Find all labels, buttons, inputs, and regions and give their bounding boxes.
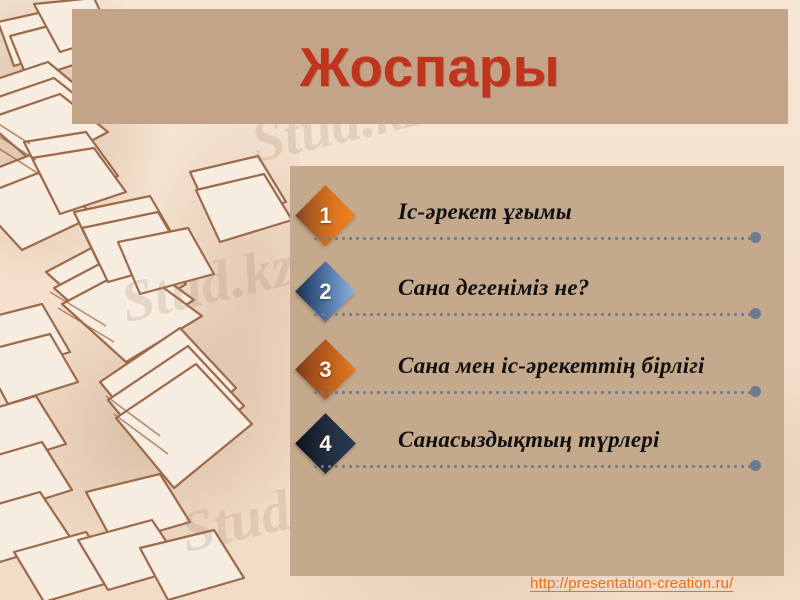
leader-end-dot: [750, 308, 761, 319]
list-item[interactable]: 1 Іс-әрекет ұғымы: [290, 186, 784, 262]
list-item-label: Санасыздықтың түрлері: [398, 418, 776, 462]
list-item[interactable]: 3 Сана мен іс-әрекеттің бірлігі: [290, 340, 784, 416]
list-item-number: 2: [304, 270, 347, 313]
plan-list: 1 Іс-әрекет ұғымы 2 Сана дегеніміз не? 3…: [290, 166, 784, 576]
list-item-label: Сана мен іс-әрекеттің бірлігі: [398, 344, 776, 388]
dotted-leader-line: [312, 236, 752, 241]
dotted-leader-line: [312, 390, 752, 395]
presentation-slide: Stud.kz Stud.kz Stud.kz Stud.kz Stud.kz …: [0, 0, 800, 600]
dotted-leader-line: [312, 464, 752, 469]
footer-source-link[interactable]: http://presentation-creation.ru/: [530, 575, 733, 592]
list-item-label: Сана дегеніміз не?: [398, 266, 776, 310]
list-item[interactable]: 4 Санасыздықтың түрлері: [290, 414, 784, 490]
leader-end-dot: [750, 386, 761, 397]
list-item-label: Іс-әрекет ұғымы: [398, 190, 776, 234]
list-item-number: 3: [304, 348, 347, 391]
list-item-number: 1: [304, 194, 347, 237]
page-title: Жоспары: [72, 9, 788, 124]
list-item[interactable]: 2 Сана дегеніміз не?: [290, 262, 784, 338]
dotted-leader-line: [312, 312, 752, 317]
leader-end-dot: [750, 460, 761, 471]
list-item-number: 4: [304, 422, 347, 465]
leader-end-dot: [750, 232, 761, 243]
